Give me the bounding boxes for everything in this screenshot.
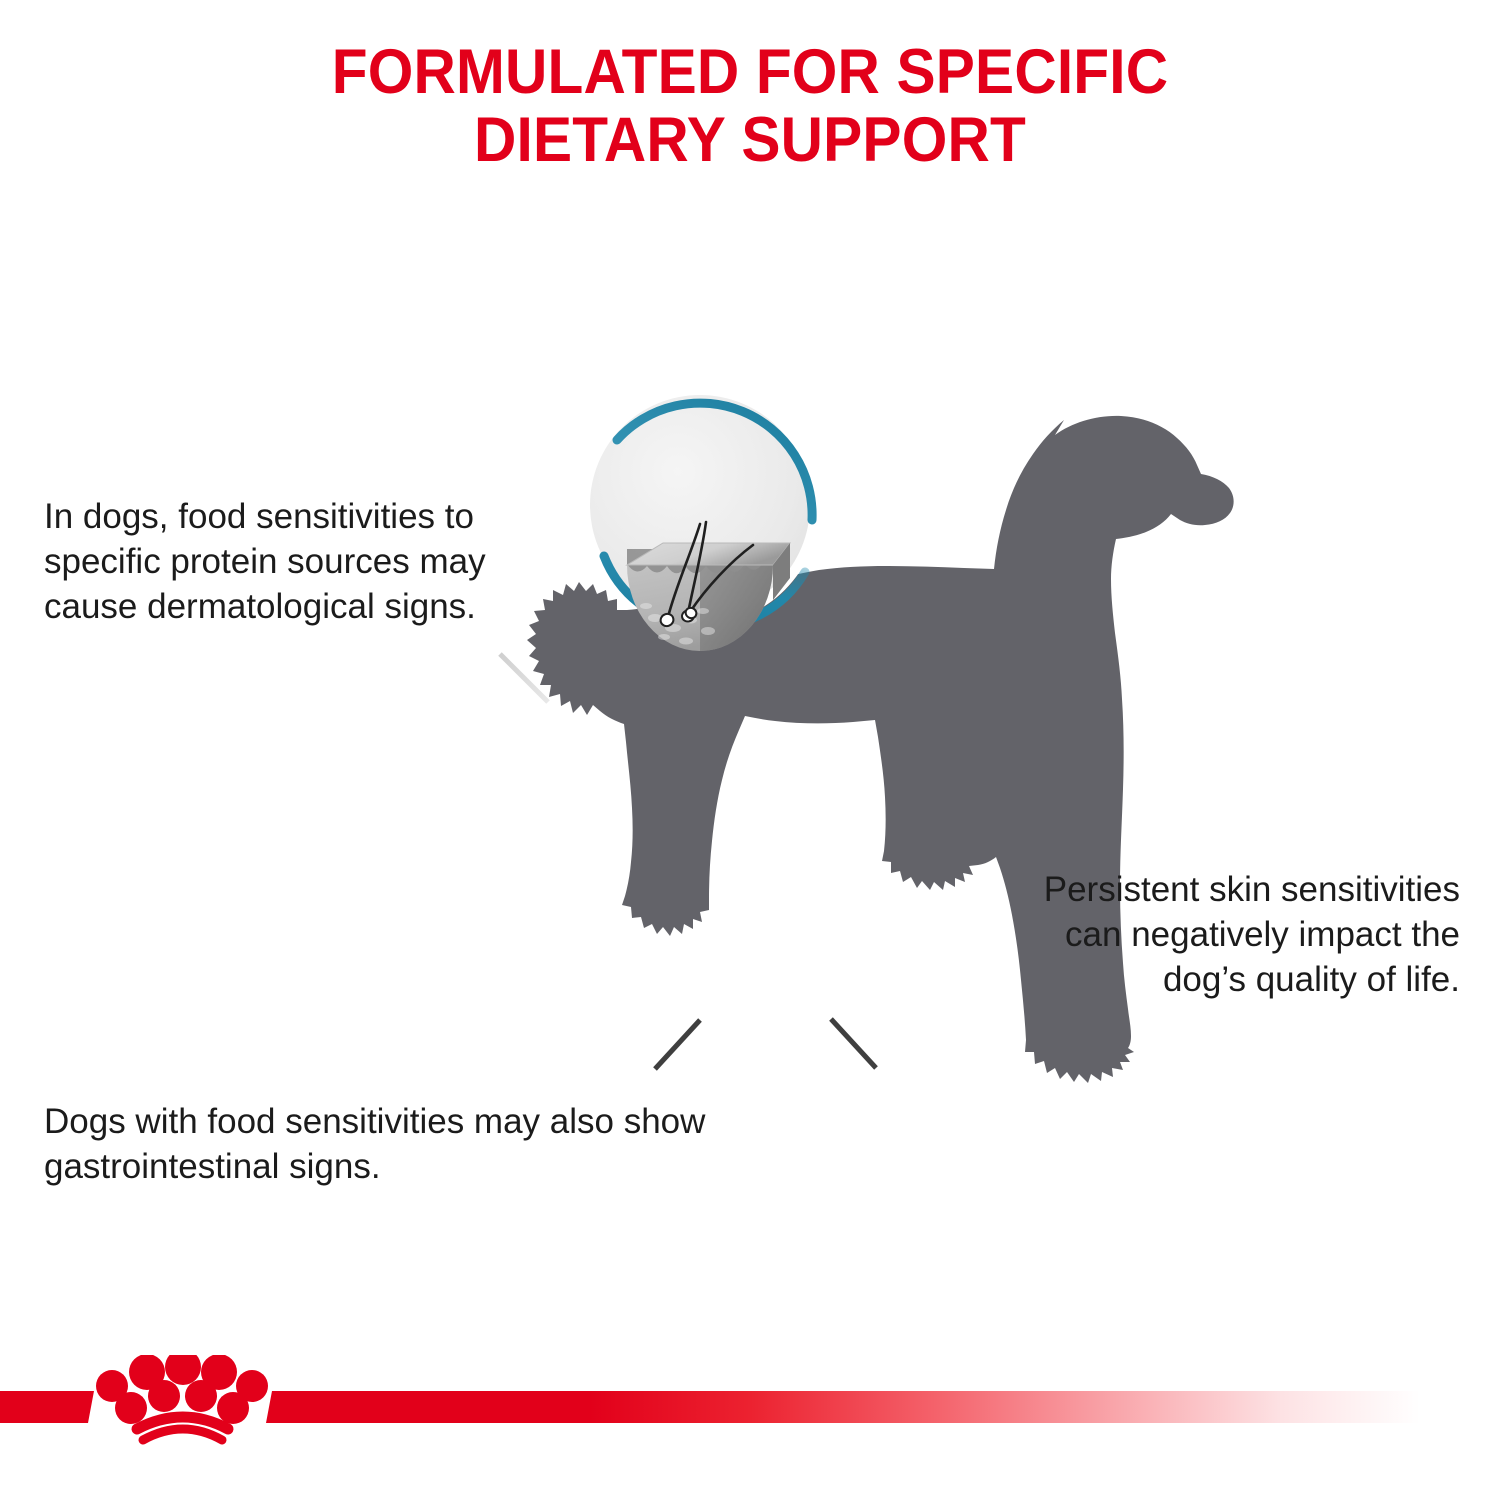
- brand-bar-right: [266, 1391, 1420, 1423]
- callout-dermatological-signs: In dogs, food sensitivities to specific …: [44, 495, 584, 629]
- callout-quality-of-life: Persistent skin sensitivities can negati…: [980, 868, 1460, 1002]
- callout-gastrointestinal-signs: Dogs with food sensitivities may also sh…: [44, 1100, 744, 1190]
- poster-canvas: FORMULATED FOR SPECIFIC DIETARY SUPPORT: [0, 0, 1500, 1500]
- leader-line-gastrointestinal: [42, 1020, 700, 1069]
- leader-line-quality-of-life: [831, 1019, 1458, 1068]
- brand-bar-left: [0, 1391, 94, 1423]
- leader-lines: [0, 0, 1500, 1500]
- footer-brand-strip: [0, 1355, 1500, 1500]
- royal-canin-crown-logo: [96, 1355, 268, 1440]
- leader-line-dermatological: [42, 654, 548, 702]
